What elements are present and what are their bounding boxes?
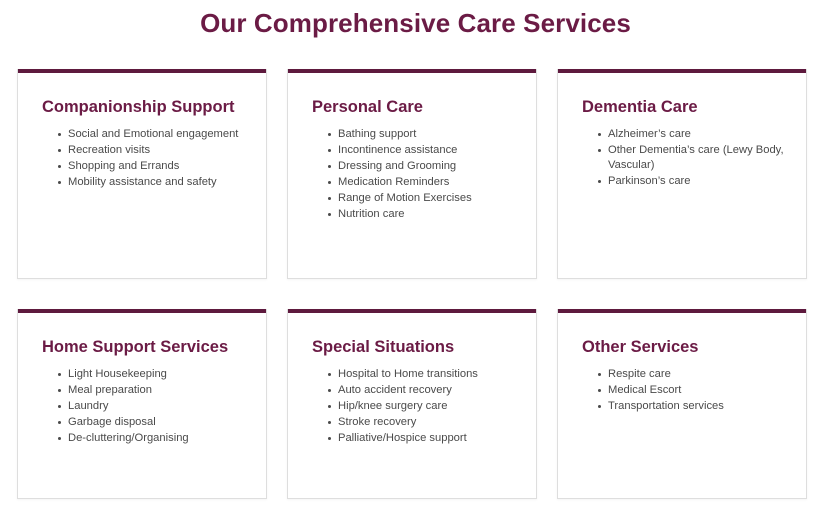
card-heading: Home Support Services	[42, 337, 252, 357]
service-card-companionship-support: Companionship Support Social and Emotion…	[17, 69, 267, 279]
list-item: Incontinence assistance	[328, 143, 522, 158]
card-body: Special Situations Hospital to Home tran…	[288, 337, 536, 446]
list-item: Mobility assistance and safety	[58, 175, 252, 190]
list-item: Other Dementia’s care (Lewy Body, Vascul…	[598, 143, 792, 174]
list-item: Medical Escort	[598, 383, 792, 398]
list-item: Parkinson’s care	[598, 174, 792, 189]
list-item: Medication Reminders	[328, 175, 522, 190]
card-service-list: Social and Emotional engagement Recreati…	[42, 127, 252, 190]
list-item: Hip/knee surgery care	[328, 399, 522, 414]
list-item: Dressing and Grooming	[328, 159, 522, 174]
list-item: Hospital to Home transitions	[328, 367, 522, 382]
service-card-dementia-care: Dementia Care Alzheimer’s care Other Dem…	[557, 69, 807, 279]
list-item: Range of Motion Exercises	[328, 191, 522, 206]
list-item: Alzheimer’s care	[598, 127, 792, 142]
list-item: Stroke recovery	[328, 415, 522, 430]
list-item: Shopping and Errands	[58, 159, 252, 174]
card-service-list: Alzheimer’s care Other Dementia’s care (…	[582, 127, 792, 190]
card-body: Other Services Respite care Medical Esco…	[558, 337, 806, 414]
service-card-special-situations: Special Situations Hospital to Home tran…	[287, 309, 537, 499]
list-item: Meal preparation	[58, 383, 252, 398]
card-accent-bar	[288, 69, 536, 73]
list-item: Social and Emotional engagement	[58, 127, 252, 142]
card-service-list: Light Housekeeping Meal preparation Laun…	[42, 367, 252, 446]
list-item: Nutrition care	[328, 207, 522, 222]
card-accent-bar	[18, 309, 266, 313]
list-item: Laundry	[58, 399, 252, 414]
service-card-personal-care: Personal Care Bathing support Incontinen…	[287, 69, 537, 279]
list-item: Transportation services	[598, 399, 792, 414]
card-body: Dementia Care Alzheimer’s care Other Dem…	[558, 97, 806, 190]
page-title: Our Comprehensive Care Services	[0, 0, 831, 38]
card-heading: Special Situations	[312, 337, 522, 357]
service-card-home-support-services: Home Support Services Light Housekeeping…	[17, 309, 267, 499]
service-card-other-services: Other Services Respite care Medical Esco…	[557, 309, 807, 499]
card-service-list: Bathing support Incontinence assistance …	[312, 127, 522, 222]
list-item: Bathing support	[328, 127, 522, 142]
list-item: Garbage disposal	[58, 415, 252, 430]
card-service-list: Hospital to Home transitions Auto accide…	[312, 367, 522, 446]
card-accent-bar	[558, 69, 806, 73]
card-accent-bar	[558, 309, 806, 313]
card-heading: Other Services	[582, 337, 792, 357]
services-card-grid: Companionship Support Social and Emotion…	[17, 69, 807, 499]
list-item: Respite care	[598, 367, 792, 382]
card-heading: Companionship Support	[42, 97, 252, 117]
card-body: Home Support Services Light Housekeeping…	[18, 337, 266, 446]
card-accent-bar	[18, 69, 266, 73]
card-accent-bar	[288, 309, 536, 313]
card-body: Companionship Support Social and Emotion…	[18, 97, 266, 190]
card-body: Personal Care Bathing support Incontinen…	[288, 97, 536, 222]
list-item: De-cluttering/Organising	[58, 431, 252, 446]
card-heading: Dementia Care	[582, 97, 792, 117]
list-item: Recreation visits	[58, 143, 252, 158]
list-item: Light Housekeeping	[58, 367, 252, 382]
list-item: Palliative/Hospice support	[328, 431, 522, 446]
list-item: Auto accident recovery	[328, 383, 522, 398]
card-heading: Personal Care	[312, 97, 522, 117]
card-service-list: Respite care Medical Escort Transportati…	[582, 367, 792, 414]
